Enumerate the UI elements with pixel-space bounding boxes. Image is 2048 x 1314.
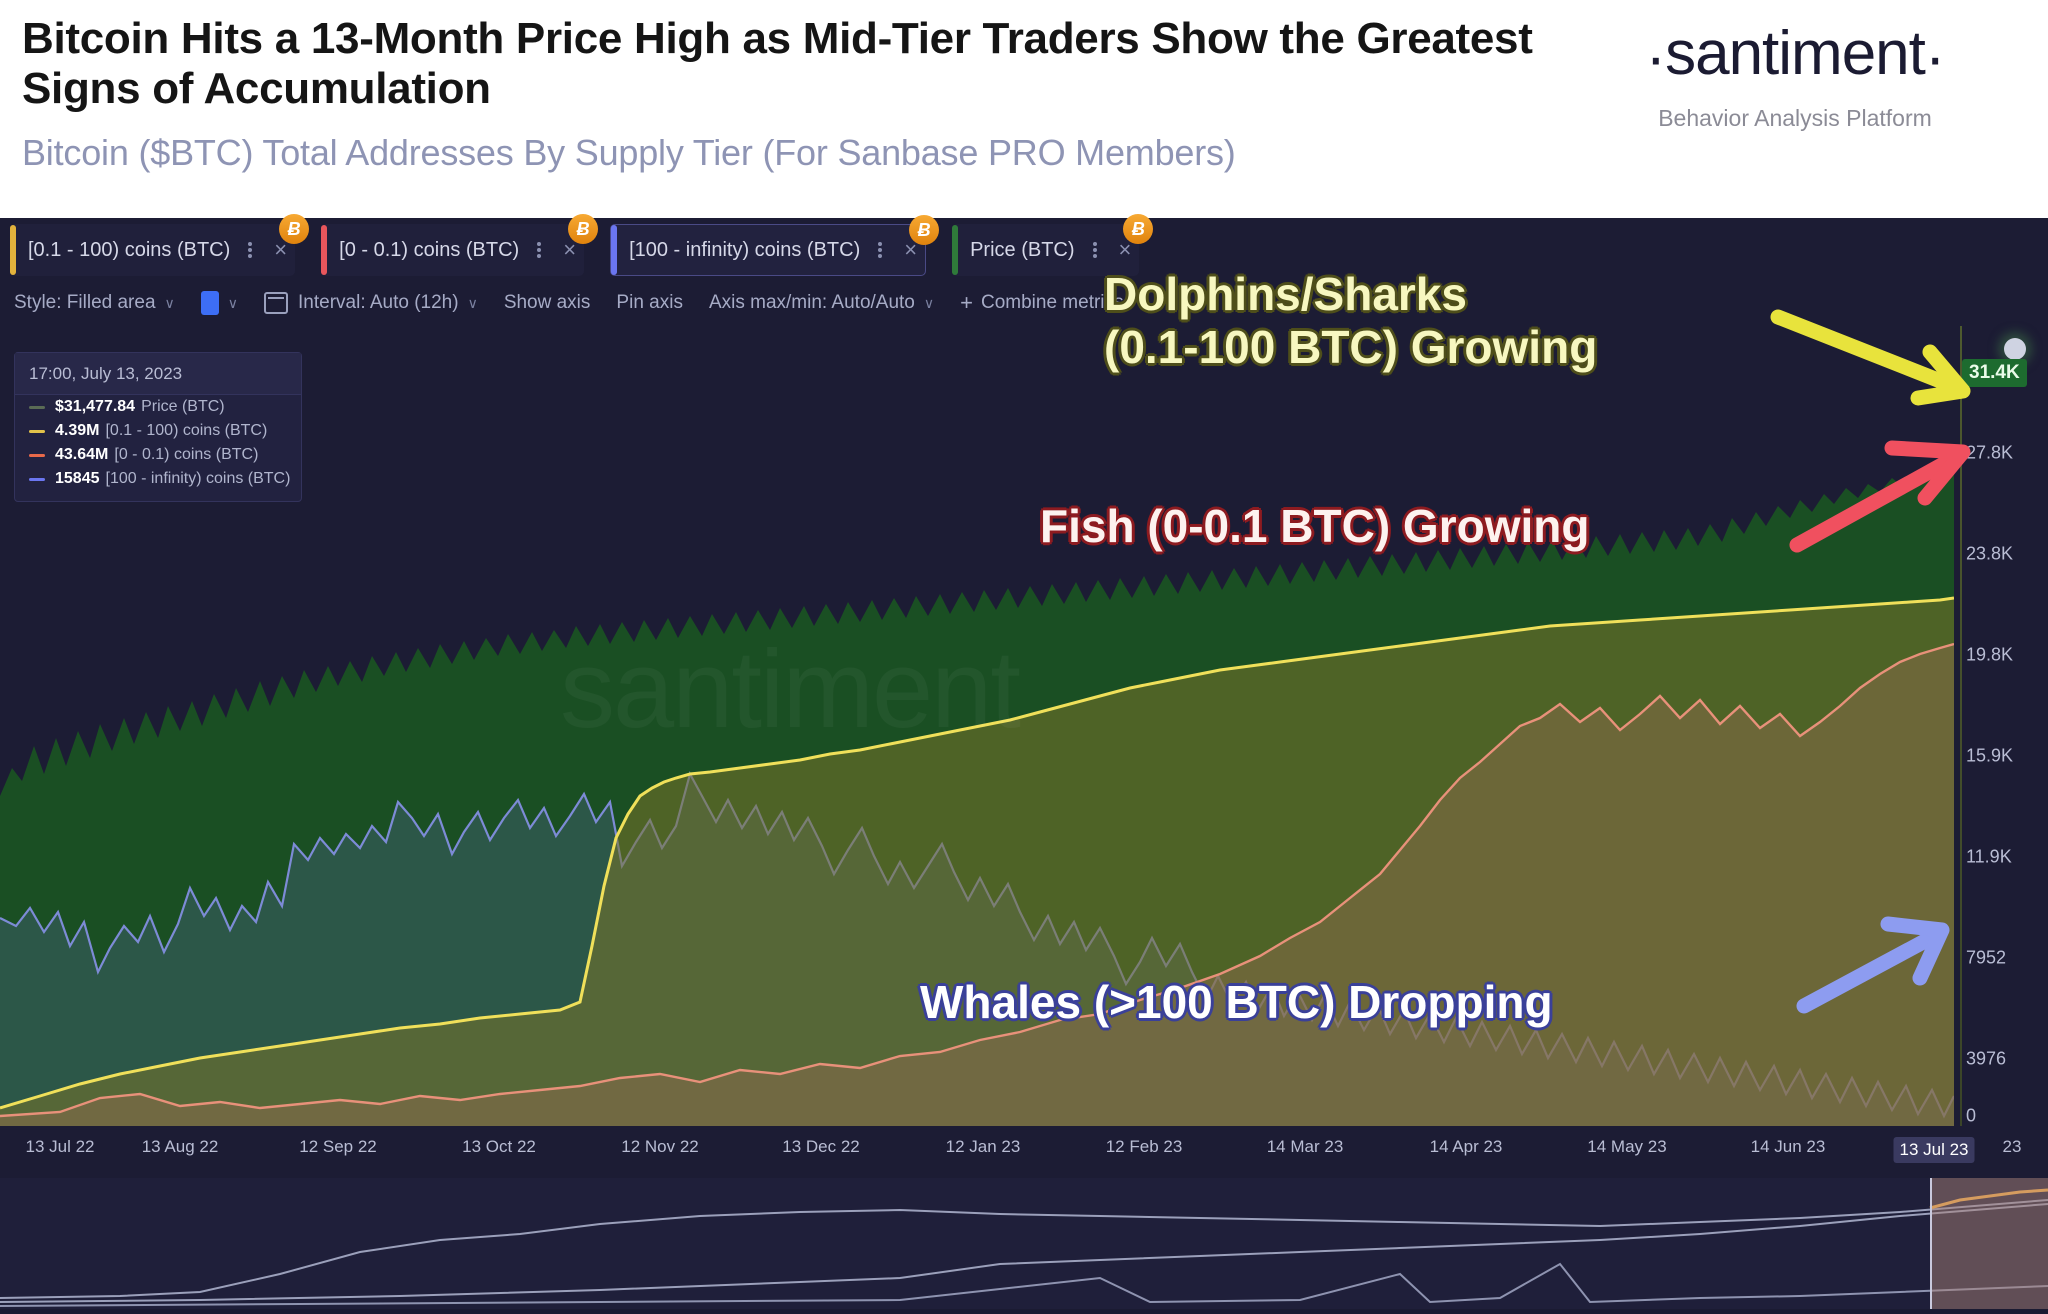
y-tick-label: 27.8K <box>1966 443 2013 464</box>
x-tick-label: 12 Nov 22 <box>621 1137 699 1157</box>
fish-annotation: Fish (0-0.1 BTC) Growing <box>1040 500 1589 553</box>
tab-menu-icon[interactable] <box>248 240 254 260</box>
tab-color-bar <box>321 225 327 275</box>
tooltip-value: $31,477.84 <box>55 398 135 416</box>
y-tick-label: 3976 <box>1966 1049 2006 1070</box>
tooltip-value: 15845 <box>55 470 100 488</box>
y-tick-label: 0 <box>1966 1106 1976 1127</box>
page-title: Bitcoin Hits a 13-Month Price High as Mi… <box>22 14 1562 114</box>
style-label: Style: Filled area <box>14 292 156 314</box>
x-tick-label: 13 Jul 22 <box>26 1137 95 1157</box>
headline-block: Bitcoin Hits a 13-Month Price High as Mi… <box>22 14 1562 174</box>
range-selector-handle[interactable] <box>1930 1178 2048 1309</box>
tooltip-row-whales: 15845 [100 - infinity) coins (BTC) <box>15 467 301 491</box>
y-tick-label: 19.8K <box>1966 645 2013 666</box>
series-color-dash <box>29 430 45 433</box>
tab-whales[interactable]: [100 - infinity) coins (BTC) × Ƀ <box>610 224 926 276</box>
chart-application: [0.1 - 100) coins (BTC) × Ƀ [0 - 0.1) co… <box>0 218 2048 1309</box>
tooltip-series-name: [0 - 0.1) coins (BTC) <box>114 446 258 464</box>
show-axis-label: Show axis <box>504 292 591 314</box>
chevron-down-icon: ∨ <box>228 295 238 312</box>
tab-menu-icon[interactable] <box>1093 240 1099 260</box>
range-selector-minimap[interactable] <box>0 1178 2048 1309</box>
bitcoin-icon: Ƀ <box>568 214 598 244</box>
x-tick-label: 12 Jan 23 <box>946 1137 1021 1157</box>
combine-metrics-label: Combine metrics <box>981 292 1124 314</box>
chevron-down-icon: ∨ <box>924 295 934 312</box>
brand-wordmark: santiment <box>1665 19 1925 88</box>
tab-label: [0.1 - 100) coins (BTC) <box>28 239 230 262</box>
x-axis[interactable]: 13 Jul 22 13 Aug 22 12 Sep 22 13 Oct 22 … <box>0 1126 2048 1170</box>
x-tick-label: 14 Mar 23 <box>1267 1137 1344 1157</box>
y-axis-line <box>1960 326 1962 1126</box>
brand-name: ·santiment· <box>1560 18 2030 93</box>
chevron-down-icon: ∨ <box>165 295 175 312</box>
series-color-dash <box>29 478 45 481</box>
axis-minmax-dropdown[interactable]: Axis max/min: Auto/Auto ∨ <box>709 292 934 314</box>
page-subtitle: Bitcoin ($BTC) Total Addresses By Supply… <box>22 132 1562 174</box>
series-color-dash <box>29 454 45 457</box>
chevron-down-icon: ∨ <box>468 295 478 312</box>
y-axis[interactable]: 31.4K 27.8K 23.8K 19.8K 15.9K 11.9K 7952… <box>1954 326 2048 1126</box>
x-tick-label-current: 13 Jul 23 <box>1894 1137 1975 1163</box>
tab-label: [100 - infinity) coins (BTC) <box>629 239 860 262</box>
y-tick-label: 11.9K <box>1966 847 2012 868</box>
plus-icon: + <box>960 290 973 316</box>
x-tick-label: 14 May 23 <box>1587 1137 1666 1157</box>
chart-toolbar: Style: Filled area ∨ ∨ Interval: Auto (1… <box>14 286 1150 320</box>
chart-tooltip: 17:00, July 13, 2023 $31,477.84 Price (B… <box>14 352 302 502</box>
tab-color-bar <box>952 225 958 275</box>
bitcoin-icon: Ƀ <box>909 215 939 245</box>
pin-axis-button[interactable]: Pin axis <box>616 292 683 314</box>
tab-label: Price (BTC) <box>970 239 1074 262</box>
tab-label: [0 - 0.1) coins (BTC) <box>339 239 519 262</box>
bitcoin-icon: Ƀ <box>279 214 309 244</box>
minimap-series-c <box>0 1264 2048 1306</box>
tab-menu-icon[interactable] <box>878 240 884 260</box>
tooltip-series-name: [100 - infinity) coins (BTC) <box>106 470 291 488</box>
page-header: Bitcoin Hits a 13-Month Price High as Mi… <box>0 0 2048 218</box>
tooltip-series-name: [0.1 - 100) coins (BTC) <box>105 422 267 440</box>
tooltip-value: 4.39M <box>55 422 99 440</box>
x-tick-label: 12 Feb 23 <box>1106 1137 1183 1157</box>
x-tick-label-extra: 23 <box>2003 1137 2022 1157</box>
dolphins-sharks-annotation: Dolphins/Sharks (0.1-100 BTC) Growing <box>1104 268 1597 374</box>
y-tick-label: 23.8K <box>1966 544 2013 565</box>
calendar-icon <box>264 292 288 314</box>
x-tick-label: 12 Sep 22 <box>299 1137 377 1157</box>
metric-tabs: [0.1 - 100) coins (BTC) × Ƀ [0 - 0.1) co… <box>10 224 1165 280</box>
tooltip-row-price: $31,477.84 Price (BTC) <box>15 395 301 419</box>
santiment-logo: ·santiment· Behavior Analysis Platform <box>1560 18 2030 132</box>
tooltip-date: 17:00, July 13, 2023 <box>15 353 301 395</box>
whales-annotation: Whales (>100 BTC) Dropping <box>920 976 1553 1029</box>
axis-minmax-label: Axis max/min: Auto/Auto <box>709 292 915 314</box>
series-color-dash <box>29 406 45 409</box>
x-tick-label: 13 Aug 22 <box>142 1137 219 1157</box>
color-swatch <box>201 291 219 315</box>
tooltip-row-fish: 43.64M [0 - 0.1) coins (BTC) <box>15 443 301 467</box>
brand-tagline: Behavior Analysis Platform <box>1560 105 2030 132</box>
color-dropdown[interactable]: ∨ <box>201 291 238 315</box>
minimap-series-a <box>0 1200 2048 1298</box>
y-tick-label: 15.9K <box>1966 746 2013 767</box>
y-tick-label: 7952 <box>1966 948 2006 969</box>
tab-menu-icon[interactable] <box>537 240 543 260</box>
x-tick-label: 14 Apr 23 <box>1430 1137 1503 1157</box>
interval-dropdown[interactable]: Interval: Auto (12h) ∨ <box>264 292 478 314</box>
tab-color-bar <box>611 225 617 275</box>
tab-color-bar <box>10 225 16 275</box>
live-indicator-icon <box>2004 338 2026 360</box>
tooltip-value: 43.64M <box>55 446 108 464</box>
tooltip-row-dolphins: 4.39M [0.1 - 100) coins (BTC) <box>15 419 301 443</box>
x-tick-label: 14 Jun 23 <box>1751 1137 1826 1157</box>
tab-fish[interactable]: [0 - 0.1) coins (BTC) × Ƀ <box>321 224 584 276</box>
bitcoin-icon: Ƀ <box>1123 214 1153 244</box>
tab-dolphins-sharks[interactable]: [0.1 - 100) coins (BTC) × Ƀ <box>10 224 295 276</box>
interval-label: Interval: Auto (12h) <box>298 292 459 314</box>
brand-dot-left: · <box>1645 23 1665 92</box>
pin-axis-label: Pin axis <box>616 292 683 314</box>
x-tick-label: 13 Oct 22 <box>462 1137 536 1157</box>
show-axis-button[interactable]: Show axis <box>504 292 591 314</box>
combine-metrics-button[interactable]: + Combine metrics <box>960 290 1123 316</box>
style-dropdown[interactable]: Style: Filled area ∨ <box>14 292 175 314</box>
minimap-svg <box>0 1178 2048 1309</box>
tooltip-series-name: Price (BTC) <box>141 398 225 416</box>
y-axis-current-badge: 31.4K <box>1962 359 2027 387</box>
x-tick-label: 13 Dec 22 <box>782 1137 860 1157</box>
brand-dot-right: · <box>1925 23 1945 92</box>
